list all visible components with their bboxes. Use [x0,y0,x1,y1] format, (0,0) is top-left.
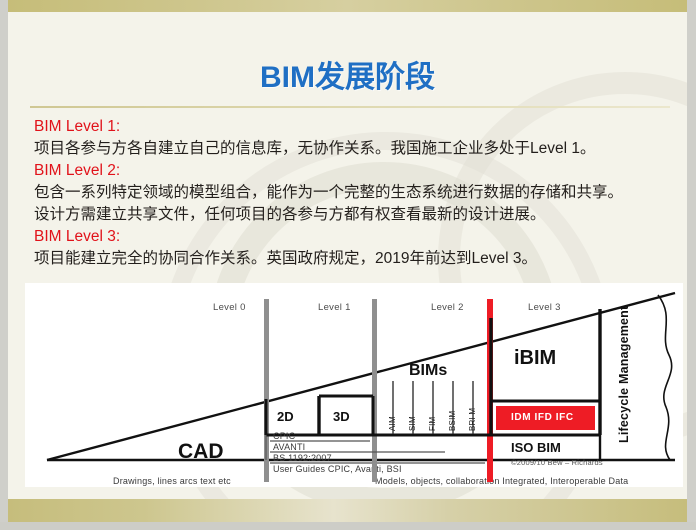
iso-bim-label: ISO BIM [511,440,561,455]
standard-avanti: AVANTI [273,442,305,452]
model-col-sim: SIM [408,416,417,431]
standard-cpic: CPIC [273,431,295,441]
level-tick-2: Level 2 [431,302,464,313]
bim-maturity-diagram-image: Level 0 Level 1 Level 2 Level 3 CAD 2D 3… [25,283,683,487]
slide-root: BIM发展阶段 BIM Level 1: 项目各参与方各自建立自己的信息库，无协… [0,0,696,530]
level-tick-3: Level 3 [528,302,561,313]
copyright-label: ©2009/10 Bew – Richards [511,458,603,467]
standard-bs1192: BS 1192:2007 [273,453,332,463]
footer-tick-red [487,460,493,482]
bottom-decorative-band [8,499,687,522]
title-divider [30,106,670,108]
model-col-brim: BRI M [468,408,477,431]
slide-frame-left [0,0,8,530]
slide-frame-bottom [0,522,696,530]
wedge-squiggle-edge [658,295,672,460]
model-col-bsim: BSIM [448,411,457,431]
bim-maturity-wedge-svg [25,283,683,487]
footer-tick-gray-2 [372,460,377,482]
footer-caption-right: Models, objects, collaboration Integrate… [375,476,628,486]
footer-tick-gray-1 [264,460,269,482]
level-tick-0: Level 0 [213,302,246,313]
page-title: BIM发展阶段 [8,52,687,96]
stage-label-2d: 2D [277,409,294,424]
level2-heading: BIM Level 2: [34,160,679,182]
model-col-aim: AIM [388,416,397,431]
level3-line-1: 项目能建立完全的协同合作关系。英国政府规定，2019年前达到Level 3。 [34,248,679,270]
slide-frame-right [687,0,696,530]
idm-ifd-ifc-label: IDM IFD IFC [511,412,574,423]
stage-label-cad: CAD [178,440,224,464]
level2-line-2: 设计方需建立共享文件，任何项目的各参与方都有权查看最新的设计进展。 [34,204,679,226]
lifecycle-management-label: Lifecycle Management [617,306,631,443]
body-text: BIM Level 1: 项目各参与方各自建立自己的信息库，无协作关系。我国施工… [34,116,679,270]
level3-heading: BIM Level 3: [34,226,679,248]
level-separator-gray-2 [372,299,377,477]
level1-heading: BIM Level 1: [34,116,679,138]
footer-caption-left: Drawings, lines arcs text etc [113,476,231,486]
level1-line-1: 项目各参与方各自建立自己的信息库，无协作关系。我国施工企业多处于Level 1。 [34,138,679,160]
model-col-fim: FIM [428,417,437,431]
stage-label-ibim: iBIM [514,347,556,370]
top-decorative-band [8,0,687,12]
standard-userguides: User Guides CPIC, Avanti, BSI [273,464,402,474]
level-tick-1: Level 1 [318,302,351,313]
slide-canvas: BIM发展阶段 BIM Level 1: 项目各参与方各自建立自己的信息库，无协… [8,12,687,499]
stage-label-bims: BIMs [409,362,447,380]
stage-label-3d: 3D [333,409,350,424]
level2-line-1: 包含一系列特定领域的模型组合，能作为一个完整的生态系统进行数据的存储和共享。 [34,182,679,204]
